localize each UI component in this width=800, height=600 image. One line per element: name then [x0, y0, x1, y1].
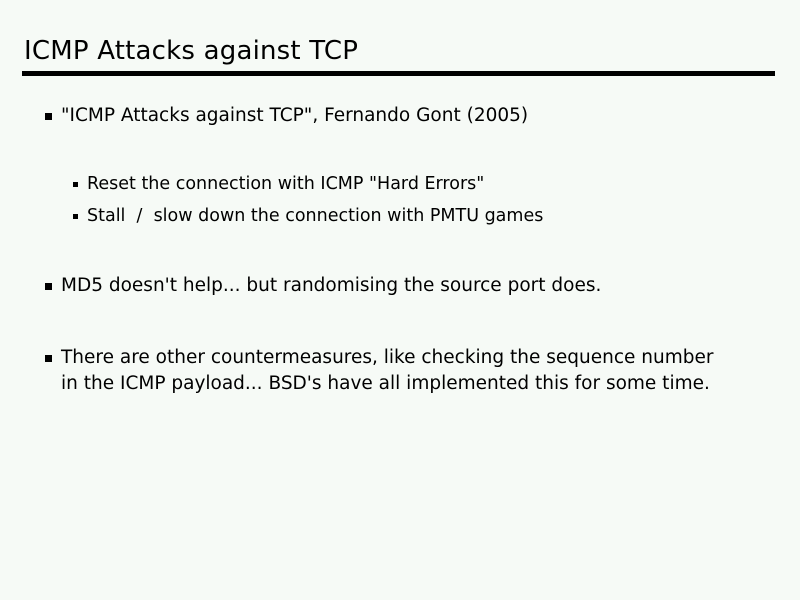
spacer: [0, 129, 800, 172]
square-bullet-icon: [45, 113, 52, 120]
spacer: [0, 229, 800, 273]
bullet-item-5: There are other countermeasures, like ch…: [0, 345, 800, 397]
bullet-item-2: Reset the connection with ICMP "Hard Err…: [0, 172, 800, 197]
bullet-item-1-label: "ICMP Attacks against TCP", Fernando Gon…: [61, 103, 730, 129]
square-bullet-icon: [73, 182, 78, 187]
square-bullet-icon: [73, 214, 78, 219]
bullet-item-4: MD5 doesn't help... but randomising the …: [0, 273, 800, 299]
bullet-item-4-label: MD5 doesn't help... but randomising the …: [61, 273, 730, 299]
bullet-item-1: "ICMP Attacks against TCP", Fernando Gon…: [0, 103, 800, 129]
slide: ICMP Attacks against TCP "ICMP Attacks a…: [0, 0, 800, 600]
bullet-item-2-label: Reset the connection with ICMP "Hard Err…: [87, 172, 720, 197]
title-underline-rule: [22, 71, 775, 76]
spacer: [0, 197, 800, 204]
bullet-item-5-label: There are other countermeasures, like ch…: [61, 345, 730, 397]
square-bullet-icon: [45, 283, 52, 290]
bullet-item-3-label: Stall / slow down the connection with PM…: [87, 204, 720, 229]
spacer: [0, 299, 800, 345]
square-bullet-icon: [45, 355, 52, 362]
bullet-item-3: Stall / slow down the connection with PM…: [0, 204, 800, 229]
page-title: ICMP Attacks against TCP: [24, 36, 358, 66]
slide-body: "ICMP Attacks against TCP", Fernando Gon…: [0, 103, 800, 397]
